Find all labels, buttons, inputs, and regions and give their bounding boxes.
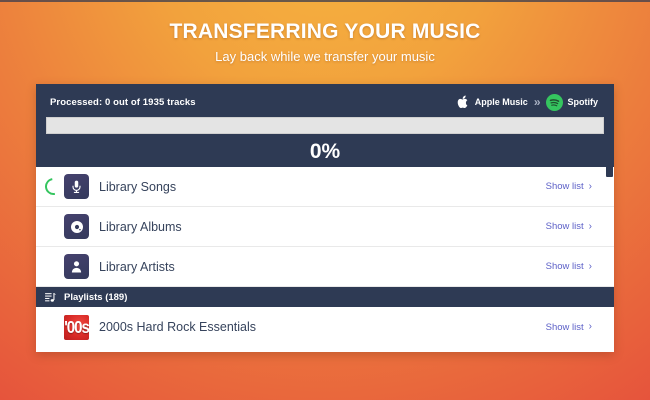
source-service-label: Apple Music: [475, 97, 528, 107]
playlist-artwork-label: '00s: [64, 318, 89, 336]
show-list-button[interactable]: Show list ›: [546, 221, 614, 232]
microphone-icon: [64, 174, 89, 199]
transfer-screen: TRANSFERRING YOUR MUSIC Lay back while w…: [0, 0, 650, 400]
progress-panel-top-row: Processed: 0 out of 1935 tracks Apple Mu…: [46, 94, 604, 110]
list-item[interactable]: Library Artists Show list ›: [36, 247, 614, 287]
playlists-section-title: Playlists (189): [64, 292, 127, 303]
chevron-right-icon: ›: [589, 222, 592, 232]
library-list: Library Songs Show list › Library Albums: [36, 167, 614, 347]
list-item-label: 2000s Hard Rock Essentials: [99, 320, 546, 334]
playlists-section-header: Playlists (189): [36, 287, 614, 307]
page-subtitle: Lay back while we transfer your music: [0, 49, 650, 64]
service-transfer-indicator: Apple Music » Spotify: [457, 94, 604, 111]
page-title: TRANSFERRING YOUR MUSIC: [0, 20, 650, 44]
playlist-artwork: '00s: [64, 315, 89, 340]
list-item-label: Library Artists: [99, 260, 546, 274]
list-item-label: Library Songs: [99, 180, 546, 194]
scrollbar-thumb[interactable]: [606, 165, 613, 177]
page-heading-group: TRANSFERRING YOUR MUSIC Lay back while w…: [0, 20, 650, 64]
show-list-label: Show list: [546, 322, 584, 333]
row-status-slot: [42, 178, 64, 195]
list-item[interactable]: Library Songs Show list ›: [36, 167, 614, 207]
show-list-button[interactable]: Show list ›: [546, 181, 614, 192]
show-list-label: Show list: [546, 261, 584, 272]
processed-count-label: Processed: 0 out of 1935 tracks: [46, 97, 196, 108]
progress-bar: [46, 117, 604, 134]
scrollbar[interactable]: [605, 84, 614, 352]
show-list-button[interactable]: Show list ›: [546, 322, 614, 333]
show-list-label: Show list: [546, 221, 584, 232]
apple-icon: [457, 95, 470, 110]
spotify-icon: [546, 94, 563, 111]
show-list-button[interactable]: Show list ›: [546, 261, 614, 272]
chevron-right-icon: ›: [589, 262, 592, 272]
progress-panel: Processed: 0 out of 1935 tracks Apple Mu…: [36, 84, 614, 167]
chevron-right-icon: ›: [589, 182, 592, 192]
chevron-right-icon: ›: [589, 322, 592, 332]
show-list-label: Show list: [546, 181, 584, 192]
list-item-label: Library Albums: [99, 220, 546, 234]
transfer-direction-icon: »: [534, 96, 538, 108]
playlist-note-icon: [44, 291, 64, 304]
loading-spinner-icon: [41, 175, 65, 199]
progress-percent-label: 0%: [46, 140, 604, 164]
destination-service-label: Spotify: [568, 97, 599, 107]
transfer-card: Processed: 0 out of 1935 tracks Apple Mu…: [36, 84, 614, 352]
disc-icon: [64, 214, 89, 239]
list-item[interactable]: '00s 2000s Hard Rock Essentials Show lis…: [36, 307, 614, 347]
list-item[interactable]: Library Albums Show list ›: [36, 207, 614, 247]
person-icon: [64, 254, 89, 279]
